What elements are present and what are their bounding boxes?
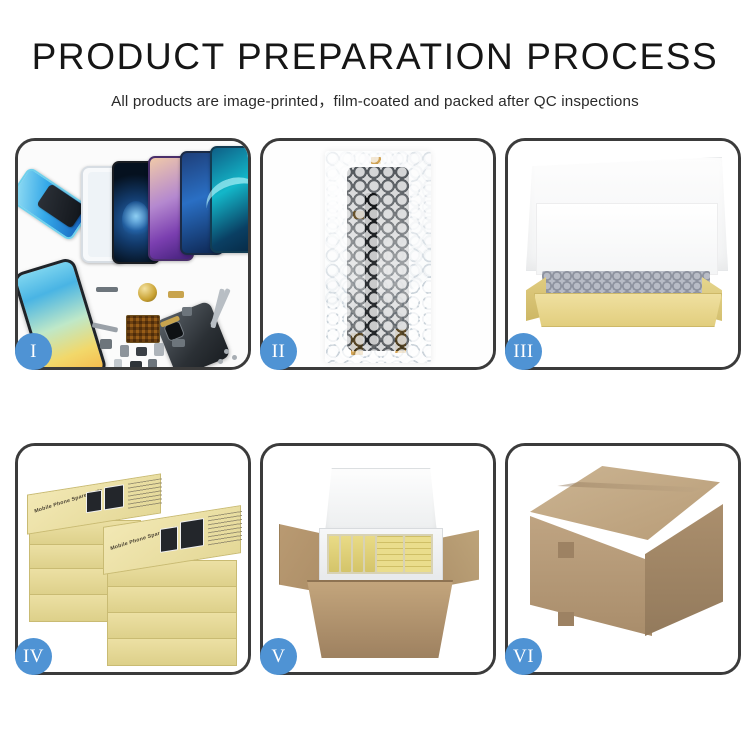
stacked-boxes-icon: Mobile Phone Spare Parts Mobile Phone Sp… bbox=[23, 460, 248, 666]
bubble-wrap-fill-icon bbox=[542, 271, 710, 295]
step-6-image bbox=[508, 446, 738, 672]
foam-cooler-lid-icon bbox=[325, 468, 437, 534]
bubble-wrap-bag-icon bbox=[325, 151, 431, 363]
step-panel-4: Mobile Phone Spare Parts Mobile Phone Sp… bbox=[15, 443, 251, 675]
page-subtitle: All products are image-printed，film-coat… bbox=[0, 89, 750, 111]
step-5-image bbox=[263, 446, 493, 672]
step-1-image bbox=[18, 141, 248, 367]
product-preparation-infographic: PRODUCT PREPARATION PROCESS All products… bbox=[0, 0, 750, 750]
phone-screen-fan-icon bbox=[18, 141, 248, 271]
tweezers-icon bbox=[204, 289, 248, 333]
step-panel-3: III Yellow inner box with white lid and … bbox=[505, 138, 741, 370]
bubble-texture bbox=[325, 151, 431, 363]
step-panel-1: I Mobile phone screens and spare parts a… bbox=[15, 138, 251, 370]
vibration-motor-icon bbox=[138, 283, 157, 302]
header: PRODUCT PREPARATION PROCESS All products… bbox=[0, 0, 750, 111]
box-front-panel-icon bbox=[534, 293, 722, 327]
step-badge-5: V bbox=[260, 638, 297, 675]
step-4-image: Mobile Phone Spare Parts Mobile Phone Sp… bbox=[18, 446, 248, 672]
step-panel-2: II Part sealed in bubble wrap bag bbox=[260, 138, 496, 370]
foam-sheet-icon bbox=[536, 203, 718, 275]
page-title: PRODUCT PREPARATION PROCESS bbox=[0, 38, 750, 75]
carton-body-icon bbox=[307, 580, 453, 658]
phone-screen-teal-icon bbox=[210, 146, 248, 253]
step-badge-2: II bbox=[260, 333, 297, 370]
chip-grid-icon bbox=[126, 315, 160, 343]
step-badge-1: I bbox=[15, 333, 52, 370]
step-badge-3: III bbox=[505, 333, 542, 370]
spare-parts-cluster-icon bbox=[96, 281, 216, 367]
step-badge-4: IV bbox=[15, 638, 52, 675]
step-2-image bbox=[263, 141, 493, 367]
process-steps-grid: I Mobile phone screens and spare parts a… bbox=[15, 138, 735, 675]
step-badge-6: VI bbox=[505, 638, 542, 675]
step-3-image bbox=[508, 141, 738, 367]
step-panel-5: V Foam cooler holding boxes inside open … bbox=[260, 443, 496, 675]
packed-boxes-icon bbox=[327, 534, 433, 574]
step-panel-6: VI Sealed brown shipping carton bbox=[505, 443, 741, 675]
